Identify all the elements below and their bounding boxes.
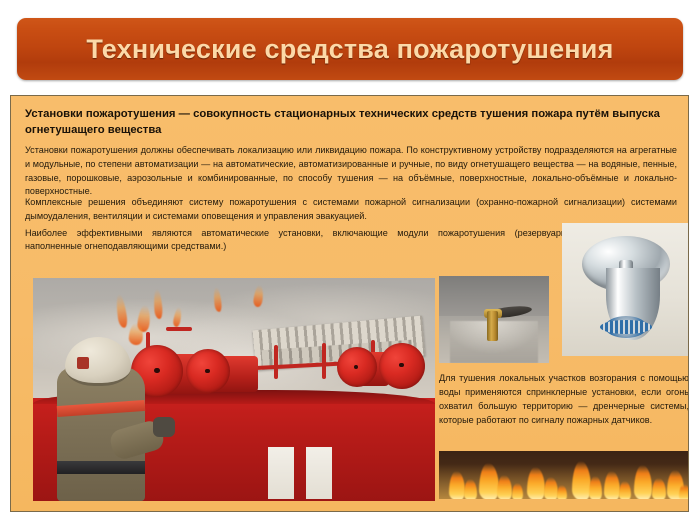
sprinkler-caption-text: Для тушения локальных участков возгорани… <box>439 371 689 427</box>
flame-icon <box>652 478 666 499</box>
flame-icon <box>497 475 512 499</box>
firefighter-helmet <box>65 337 131 386</box>
lead-definition-text: Установки пожаротушения — совокупность с… <box>25 106 675 138</box>
slide: Технические средства пожаротушения Устан… <box>0 0 700 525</box>
fire-truck-photo <box>33 278 435 501</box>
flames-photo <box>439 451 689 499</box>
sprinkler-head <box>487 311 498 341</box>
flame-icon <box>557 485 567 499</box>
hose-reel <box>186 349 230 393</box>
firefighter-stripe <box>57 461 145 474</box>
truck-rail <box>166 327 192 331</box>
flame-icon <box>679 484 689 499</box>
body-paragraph-2-sub: Наиболее эффективными являются автоматич… <box>25 227 570 255</box>
truck-rail <box>322 343 326 379</box>
slide-title-banner: Технические средства пожаротушения <box>17 18 683 80</box>
hose-reel <box>337 347 377 387</box>
body-paragraph-1: Установки пожаротушения должны обеспечив… <box>25 144 677 199</box>
flame-icon <box>512 483 523 499</box>
sprinkler-deflector <box>605 316 647 338</box>
truck-rail <box>274 345 278 379</box>
body-paragraph-2-main: Комплексные решения объединяют систему п… <box>25 197 677 221</box>
brass-sprinkler-photo <box>439 276 549 363</box>
truck-stripe <box>268 447 294 499</box>
content-panel: Установки пожаротушения — совокупность с… <box>10 95 689 512</box>
chrome-sprinkler-photo <box>562 223 689 356</box>
truck-stripe <box>306 447 332 499</box>
firefighter-glove <box>153 417 175 437</box>
hose-reel <box>379 343 425 389</box>
page-title: Технические средства пожаротушения <box>86 34 613 65</box>
firefighter-figure <box>49 329 151 501</box>
